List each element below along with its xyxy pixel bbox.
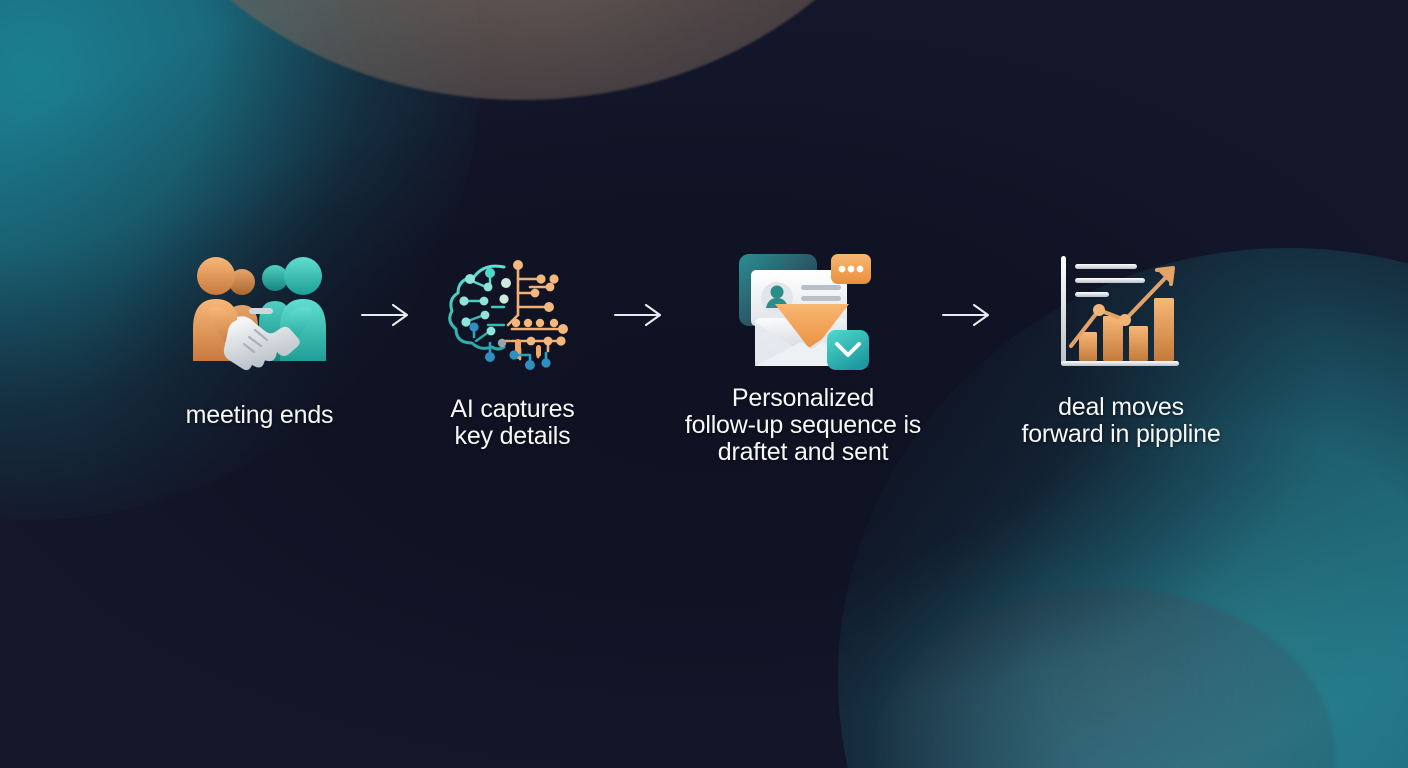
background-blob-warm-top [105, 0, 940, 100]
flow-step-deal-forward: deal moves forward in pippline [1006, 250, 1236, 448]
flow-step-meeting-ends: meeting ends [172, 250, 347, 429]
process-flow: meeting ends [0, 250, 1408, 466]
flow-step-followup-drafted: Personalized follow-up sequence is draft… [678, 250, 928, 466]
arrow-right-icon [600, 250, 678, 380]
flow-step-label: meeting ends [186, 402, 334, 429]
email-contact-message-icon [737, 246, 869, 376]
flow-step-label: Personalized follow-up sequence is draft… [685, 385, 921, 466]
arrow-right-icon [347, 250, 425, 380]
flow-step-label: AI captures key details [450, 396, 574, 450]
growth-bar-chart-icon [1059, 248, 1183, 378]
flow-step-ai-captures: AI captures key details [425, 250, 600, 450]
background-blob-cool-bottom [875, 588, 1335, 768]
ai-brain-circuit-icon [442, 250, 584, 380]
slide-canvas: meeting ends [0, 0, 1408, 768]
handshake-people-icon [185, 250, 335, 380]
arrow-right-icon [928, 250, 1006, 380]
flow-step-label: deal moves forward in pippline [1021, 394, 1220, 448]
